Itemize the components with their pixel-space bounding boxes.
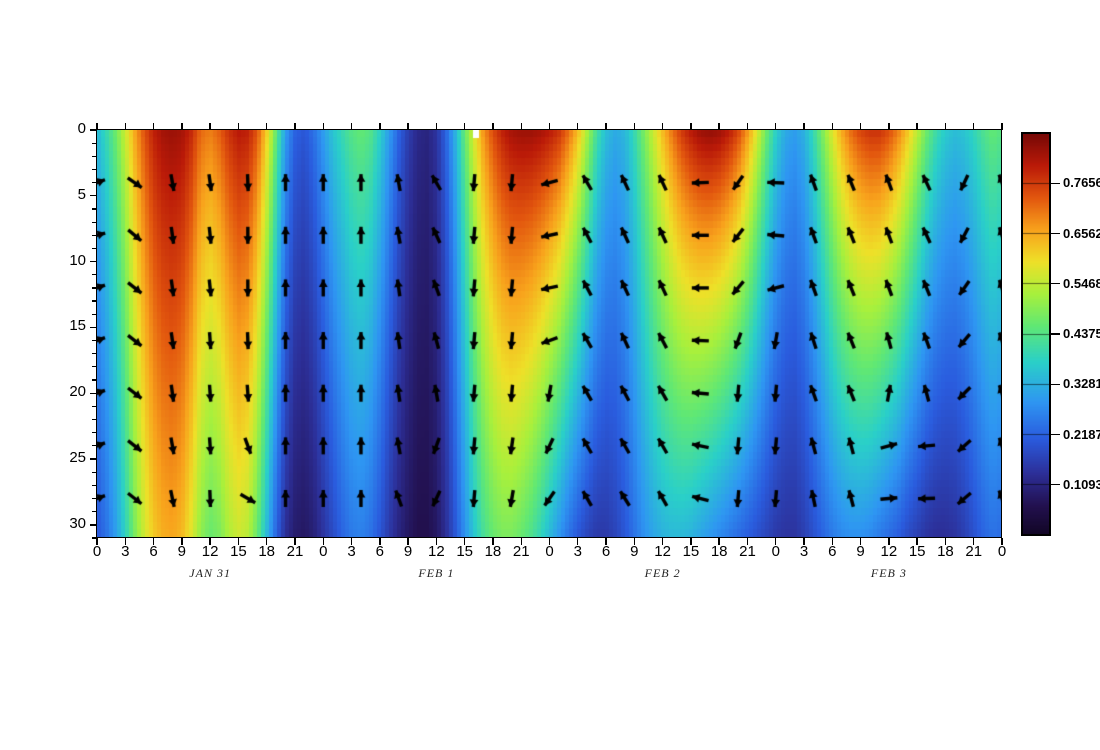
x-axis-tick-label: 12	[195, 543, 225, 560]
y-axis-tick-label: 20	[50, 383, 86, 400]
x-axis-tick-label: 3	[110, 543, 140, 560]
y-axis-minor-tick	[92, 156, 97, 157]
x-axis-tick-label: 9	[846, 543, 876, 560]
x-axis-tick-label: 3	[337, 543, 367, 560]
x-axis-tick-label: 21	[959, 543, 989, 560]
y-axis-minor-tick	[92, 274, 97, 275]
y-axis-tick-mark	[90, 458, 97, 459]
x-axis-tick-label: 15	[223, 543, 253, 560]
x-axis-tick-label: 21	[506, 543, 536, 560]
y-axis-minor-tick	[92, 379, 97, 380]
currents-heatmap-plot	[97, 130, 1002, 538]
x-axis-top-tick-mark	[209, 123, 210, 130]
y-axis-tick-mark	[90, 524, 97, 525]
x-axis-tick-label: 9	[393, 543, 423, 560]
x-axis-day-label: FEB 1	[391, 566, 481, 581]
x-axis-top-tick-mark	[407, 123, 408, 130]
x-axis-tick-label: 15	[450, 543, 480, 560]
y-axis-tick-mark	[90, 195, 97, 196]
x-axis-tick-label: 6	[365, 543, 395, 560]
x-axis-tick-label: 12	[421, 543, 451, 560]
y-axis-minor-tick	[92, 143, 97, 144]
y-axis-minor-tick	[92, 498, 97, 499]
x-axis-top-tick-mark	[945, 123, 946, 130]
x-axis-tick-label: 12	[874, 543, 904, 560]
x-axis-top-tick-mark	[379, 123, 380, 130]
colorbar-gradient	[1022, 133, 1050, 535]
x-axis-top-tick-mark	[860, 123, 861, 130]
x-axis-top-tick-mark	[747, 123, 748, 130]
x-axis-top-tick-mark	[238, 123, 239, 130]
y-axis-tick-mark	[90, 393, 97, 394]
y-axis-tick-label: 30	[50, 515, 86, 532]
x-axis-tick-label: 0	[535, 543, 565, 560]
x-axis-top-tick-mark	[888, 123, 889, 130]
y-axis-minor-tick	[92, 472, 97, 473]
x-axis-top-tick-mark	[323, 123, 324, 130]
x-axis-top-tick-mark	[916, 123, 917, 130]
colorbar-tick-label: 0.109375	[1063, 477, 1100, 492]
y-axis-minor-tick	[92, 406, 97, 407]
x-axis-top-tick-mark	[803, 123, 804, 130]
y-axis-tick-label: 10	[50, 252, 86, 269]
x-axis-tick-label: 6	[139, 543, 169, 560]
x-axis-day-label: JAN 31	[165, 566, 255, 581]
x-axis-tick-label: 9	[167, 543, 197, 560]
y-axis-tick-label: 15	[50, 317, 86, 334]
x-axis-tick-label: 18	[252, 543, 282, 560]
x-axis-top-tick-mark	[492, 123, 493, 130]
y-axis-minor-tick	[92, 432, 97, 433]
x-axis-tick-label: 18	[478, 543, 508, 560]
x-axis-top-tick-mark	[634, 123, 635, 130]
colorbar-tick-mark	[1051, 183, 1060, 184]
x-axis-tick-label: 0	[308, 543, 338, 560]
colorbar-tick-mark	[1051, 384, 1060, 385]
x-axis-day-label: FEB 2	[618, 566, 708, 581]
colorbar-tick-mark	[1051, 333, 1060, 334]
y-axis-minor-tick	[92, 300, 97, 301]
x-axis-top-tick-mark	[577, 123, 578, 130]
y-axis-tick-label: 0	[50, 120, 86, 137]
x-axis-top-tick-mark	[153, 123, 154, 130]
y-axis-tick-label: 5	[50, 186, 86, 203]
x-axis-top-tick-mark	[351, 123, 352, 130]
x-axis-tick-label: 0	[761, 543, 791, 560]
x-axis-top-tick-mark	[1001, 123, 1002, 130]
x-axis-top-tick-mark	[181, 123, 182, 130]
x-axis-tick-label: 0	[82, 543, 112, 560]
y-axis-minor-tick	[92, 169, 97, 170]
x-axis-tick-label: 15	[676, 543, 706, 560]
x-axis-tick-label: 12	[648, 543, 678, 560]
y-axis-minor-tick	[92, 208, 97, 209]
y-axis-minor-tick	[92, 222, 97, 223]
x-axis-top-tick-mark	[973, 123, 974, 130]
y-axis-minor-tick	[92, 340, 97, 341]
x-axis-tick-label: 18	[704, 543, 734, 560]
x-axis-top-tick-mark	[266, 123, 267, 130]
y-axis-minor-tick	[92, 419, 97, 420]
x-axis-tick-label: 21	[732, 543, 762, 560]
colorbar-tick-label: 0.765625	[1063, 175, 1100, 190]
x-axis-top-tick-mark	[662, 123, 663, 130]
x-axis-tick-label: 18	[930, 543, 960, 560]
x-axis-tick-label: 15	[902, 543, 932, 560]
x-axis-top-tick-mark	[96, 123, 97, 130]
x-axis-tick-label: 21	[280, 543, 310, 560]
colorbar-tick-label: 0.546875	[1063, 276, 1100, 291]
y-axis-minor-tick	[92, 445, 97, 446]
colorbar-tick-label: 0.4375	[1063, 326, 1100, 341]
x-axis-tick-label: 3	[563, 543, 593, 560]
y-axis-minor-tick	[92, 182, 97, 183]
colorbar-tick-label: 0.65625	[1063, 226, 1100, 241]
x-axis-top-tick-mark	[125, 123, 126, 130]
x-axis-top-tick-mark	[464, 123, 465, 130]
x-axis-top-tick-mark	[605, 123, 606, 130]
x-axis-day-label: FEB 3	[844, 566, 934, 581]
colorbar-tick-mark	[1051, 484, 1060, 485]
y-axis-tick-mark	[90, 261, 97, 262]
y-axis-minor-tick	[92, 511, 97, 512]
colorbar-tick-label: 0.328125	[1063, 376, 1100, 391]
colorbar-tick-mark	[1051, 233, 1060, 234]
x-axis-top-tick-mark	[718, 123, 719, 130]
x-axis-tick-label: 6	[591, 543, 621, 560]
y-axis-minor-tick	[92, 485, 97, 486]
colorbar-tick-mark	[1051, 283, 1060, 284]
x-axis-tick-label: 9	[619, 543, 649, 560]
x-axis-top-tick-mark	[436, 123, 437, 130]
x-axis-top-tick-mark	[775, 123, 776, 130]
y-axis-tick-mark	[90, 327, 97, 328]
x-axis-top-tick-mark	[549, 123, 550, 130]
y-axis-minor-tick	[92, 314, 97, 315]
x-axis-top-tick-mark	[832, 123, 833, 130]
x-axis-top-tick-mark	[690, 123, 691, 130]
x-axis-tick-label: 6	[817, 543, 847, 560]
y-axis-minor-tick	[92, 287, 97, 288]
y-axis-minor-tick	[92, 353, 97, 354]
x-axis-tick-label: 0	[987, 543, 1017, 560]
x-axis-top-tick-mark	[521, 123, 522, 130]
y-axis-minor-tick	[92, 248, 97, 249]
y-axis-minor-tick	[92, 235, 97, 236]
x-axis-top-tick-mark	[294, 123, 295, 130]
colorbar-tick-mark	[1051, 434, 1060, 435]
y-axis-minor-tick	[92, 366, 97, 367]
y-axis-tick-label: 25	[50, 449, 86, 466]
x-axis-tick-label: 3	[789, 543, 819, 560]
colorbar-tick-label: 0.21875	[1063, 427, 1100, 442]
